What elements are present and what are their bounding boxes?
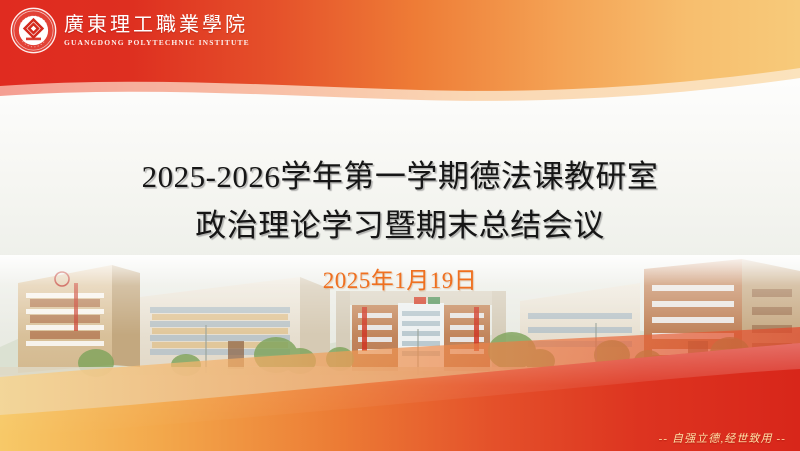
meeting-title-line1: 2025-2026学年第一学期德法课教研室 [0, 152, 800, 201]
university-seal-icon [10, 7, 57, 54]
header-banner: 廣東理工職業學院 GUANGDONG POLYTECHNIC INSTITUTE [0, 0, 800, 112]
meeting-date: 2025年1月19日 [0, 266, 800, 296]
brand-text-block: 廣東理工職業學院 GUANGDONG POLYTECHNIC INSTITUTE [64, 13, 250, 48]
meeting-title-line2: 政治理论学习暨期末总结会议 [0, 201, 800, 250]
university-name-en: GUANGDONG POLYTECHNIC INSTITUTE [64, 38, 250, 48]
university-name-cn: 廣東理工職業學院 [64, 14, 250, 37]
title-slide: -- 自强立德,经世致用 -- [0, 0, 800, 451]
brand-lockup: 廣東理工職業學院 GUANGDONG POLYTECHNIC INSTITUTE [10, 7, 250, 54]
footer-motto: -- 自强立德,经世致用 -- [659, 432, 786, 446]
title-block: 2025-2026学年第一学期德法课教研室 政治理论学习暨期末总结会议 2025… [0, 152, 800, 296]
